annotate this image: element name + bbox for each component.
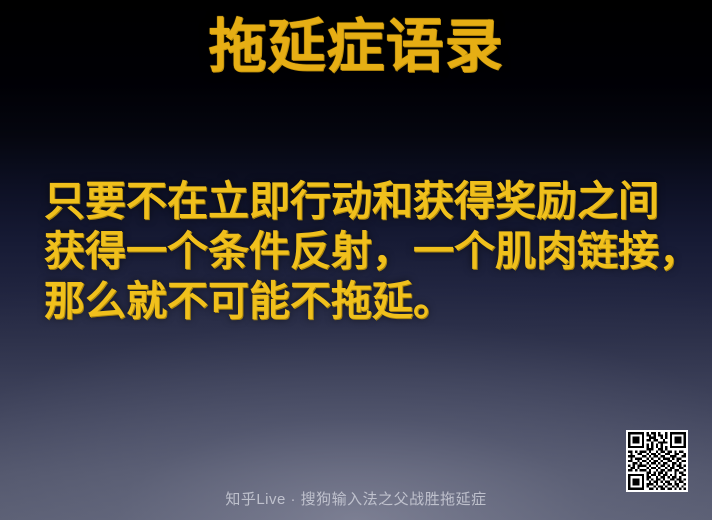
qr-code[interactable] (626, 430, 688, 492)
quote-block: 只要不在立即行动和获得奖励之间 获得一个条件反射，一个肌肉链接， 那么就不可能不… (44, 176, 684, 326)
quote-line: 获得一个条件反射，一个肌肉链接， (44, 226, 684, 276)
quote-line: 那么就不可能不拖延。 (44, 276, 684, 326)
qr-code-icon (628, 432, 686, 490)
quote-line: 只要不在立即行动和获得奖励之间 (44, 176, 684, 226)
page-title: 拖延症语录 (0, 12, 712, 82)
slide-canvas: 拖延症语录 只要不在立即行动和获得奖励之间 获得一个条件反射，一个肌肉链接， 那… (0, 0, 712, 520)
footer-caption: 知乎Live · 搜狗输入法之父战胜拖延症 (0, 490, 712, 510)
